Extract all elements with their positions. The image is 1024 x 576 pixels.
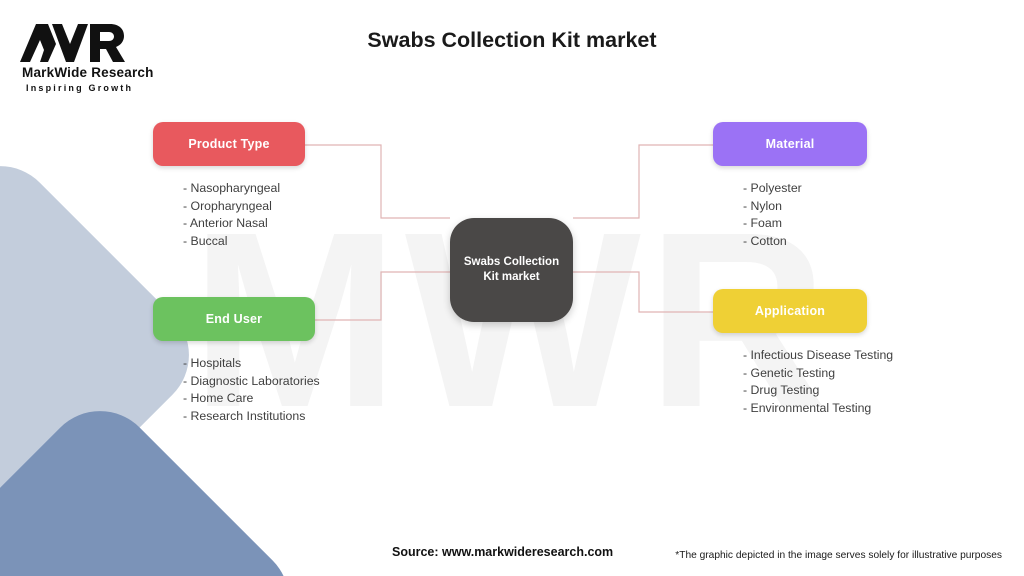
list-item: - Anterior Nasal	[183, 215, 305, 233]
connector-end-user	[315, 272, 450, 320]
list-item: - Buccal	[183, 233, 305, 251]
diagram-canvas: MWR MarkWide Research Inspiring Growth S…	[0, 0, 1024, 576]
branch-label-application[interactable]: Application	[713, 289, 867, 333]
branch-material[interactable]: Material - Polyester - Nylon - Foam - Co…	[713, 122, 867, 250]
list-item: - Infectious Disease Testing	[743, 347, 867, 365]
list-item: - Genetic Testing	[743, 365, 867, 383]
list-item: - Cotton	[743, 233, 867, 251]
branch-end-user[interactable]: End User - Hospitals - Diagnostic Labora…	[153, 297, 315, 425]
connector-material	[573, 145, 713, 218]
list-item: - Hospitals	[183, 355, 315, 373]
list-item: - Nylon	[743, 198, 867, 216]
list-item: - Oropharyngeal	[183, 198, 305, 216]
list-item: - Foam	[743, 215, 867, 233]
central-node[interactable]: Swabs Collection Kit market	[450, 218, 573, 322]
connector-product-type	[305, 145, 450, 218]
connector-application	[573, 272, 713, 312]
disclaimer-text: *The graphic depicted in the image serve…	[675, 550, 1002, 561]
branch-items-material: - Polyester - Nylon - Foam - Cotton	[713, 180, 867, 250]
branch-items-end-user: - Hospitals - Diagnostic Laboratories - …	[153, 355, 315, 425]
branch-product-type[interactable]: Product Type - Nasopharyngeal - Orophary…	[153, 122, 305, 250]
list-item: - Drug Testing	[743, 382, 867, 400]
list-item: - Polyester	[743, 180, 867, 198]
source-text: Source: www.markwideresearch.com	[392, 545, 613, 559]
list-item: - Environmental Testing	[743, 400, 867, 418]
list-item: - Diagnostic Laboratories	[183, 373, 315, 391]
branch-label-material[interactable]: Material	[713, 122, 867, 166]
logo-company-name: MarkWide Research	[18, 65, 218, 80]
list-item: - Home Care	[183, 390, 315, 408]
branch-application[interactable]: Application - Infectious Disease Testing…	[713, 289, 867, 417]
page-title: Swabs Collection Kit market	[0, 28, 1024, 53]
branch-label-end-user[interactable]: End User	[153, 297, 315, 341]
list-item: - Nasopharyngeal	[183, 180, 305, 198]
branch-items-application: - Infectious Disease Testing - Genetic T…	[713, 347, 867, 417]
branch-items-product-type: - Nasopharyngeal - Oropharyngeal - Anter…	[153, 180, 305, 250]
logo-tagline: Inspiring Growth	[18, 83, 218, 93]
list-item: - Research Institutions	[183, 408, 315, 426]
branch-label-product-type[interactable]: Product Type	[153, 122, 305, 166]
